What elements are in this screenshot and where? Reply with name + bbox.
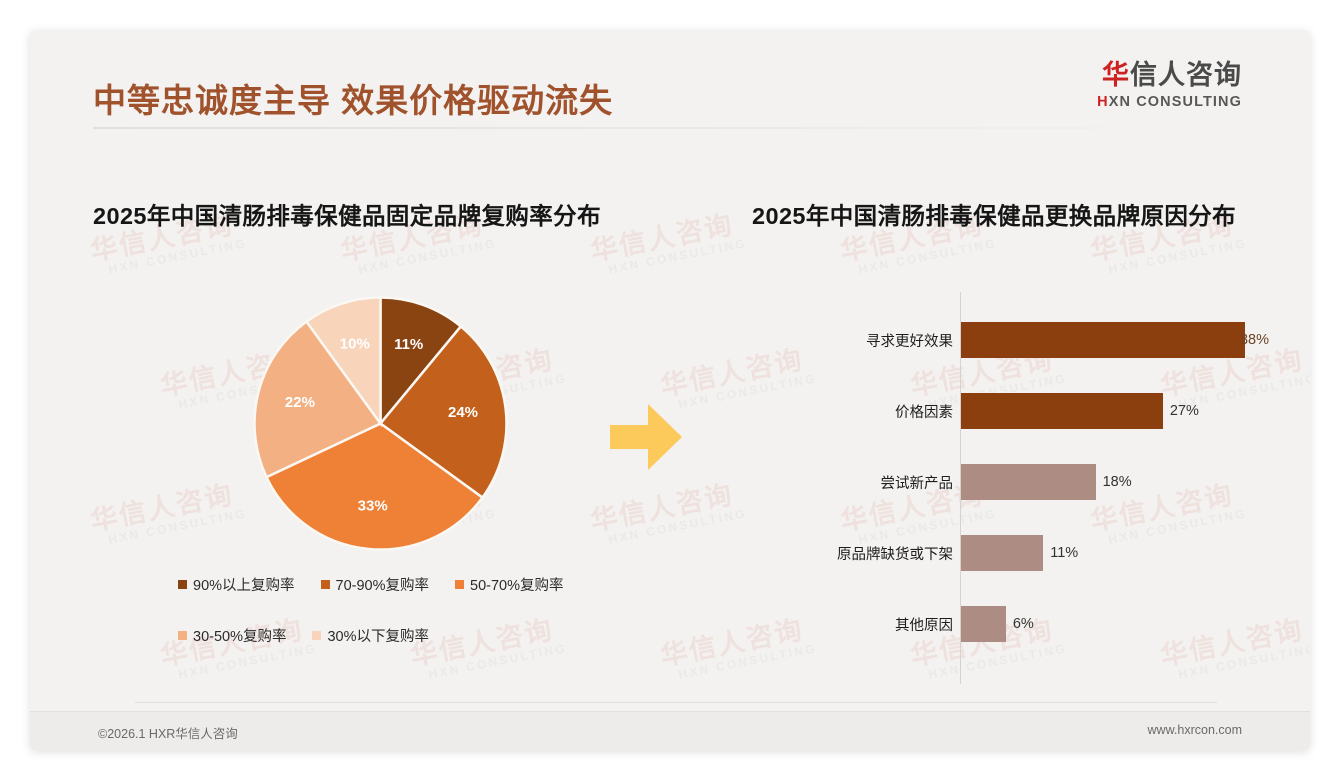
- legend-row: 90%以上复购率70-90%复购率50-70%复购率: [178, 574, 608, 595]
- legend-item[interactable]: 70-90%复购率: [321, 574, 429, 595]
- watermark-text: 华信人咨询HXN CONSULTING: [587, 201, 748, 280]
- logo-chinese-rest: 信人咨询: [1130, 60, 1242, 90]
- bar-fill[interactable]: [961, 393, 1163, 429]
- watermark-text: 华信人咨询HXN CONSULTING: [87, 471, 248, 550]
- bar-value-label: 6%: [1013, 616, 1034, 632]
- bar-fill[interactable]: [961, 464, 1096, 500]
- legend-swatch-icon: [455, 580, 464, 589]
- legend-swatch-icon: [321, 580, 330, 589]
- title-divider: [93, 127, 1243, 129]
- bar-category-label: 尝试新产品: [805, 472, 961, 493]
- bar-chart-title: 2025年中国清肠排毒保健品更换品牌原因分布: [752, 197, 1236, 231]
- pie-chart: 11%24%33%22%10%: [252, 295, 509, 552]
- bar-fill[interactable]: [961, 322, 1245, 358]
- legend-label: 30-50%复购率: [193, 625, 286, 646]
- bar-value-label: 38%: [1240, 332, 1269, 348]
- legend-label: 30%以下复购率: [327, 625, 429, 646]
- pie-chart-title: 2025年中国清肠排毒保健品固定品牌复购率分布: [93, 197, 601, 231]
- legend-label: 90%以上复购率: [193, 574, 295, 595]
- watermark-text: 华信人咨询HXN CONSULTING: [657, 606, 818, 685]
- bar-category-label: 寻求更好效果: [805, 330, 961, 351]
- footer-copyright: ©2026.1 HXR华信人咨询: [98, 723, 238, 742]
- bar-track: 27%: [961, 393, 1275, 429]
- legend-item[interactable]: 50-70%复购率: [455, 574, 563, 595]
- bar-track: 6%: [961, 606, 1275, 642]
- legend-label: 50-70%复购率: [470, 574, 563, 595]
- bar-category-label: 价格因素: [805, 401, 961, 422]
- legend-row: 30-50%复购率30%以下复购率: [178, 625, 608, 646]
- logo-english-rest: XN CONSULTING: [1109, 94, 1242, 110]
- logo-english-accent: H: [1097, 94, 1109, 110]
- pie-slice-label: 22%: [285, 394, 315, 411]
- bar-chart: 寻求更好效果38%价格因素27%尝试新产品18%原品牌缺货或下架11%其他原因6…: [805, 292, 1275, 684]
- bar-category-label: 原品牌缺货或下架: [805, 543, 961, 564]
- legend-item[interactable]: 90%以上复购率: [178, 574, 295, 595]
- pie-slice-label: 10%: [340, 335, 370, 352]
- pie-slice-label: 24%: [448, 404, 478, 421]
- bar-fill[interactable]: [961, 535, 1043, 571]
- logo-chinese: 华信人咨询: [1097, 62, 1242, 89]
- bar-value-label: 18%: [1103, 474, 1132, 490]
- legend-swatch-icon: [178, 631, 187, 640]
- legend-swatch-icon: [178, 580, 187, 589]
- bar-track: 38%: [961, 322, 1275, 358]
- slide-canvas: 华信人咨询HXN CONSULTING华信人咨询HXN CONSULTING华信…: [30, 30, 1310, 750]
- bar-category-label: 其他原因: [805, 614, 961, 635]
- slide-footer: ©2026.1 HXR华信人咨询 www.hxrcon.com: [30, 711, 1310, 750]
- bar-track: 11%: [961, 535, 1275, 571]
- company-logo: 华信人咨询 HXN CONSULTING: [1097, 62, 1242, 110]
- pie-slice-label: 33%: [358, 497, 388, 514]
- footnote-divider: [135, 702, 1217, 703]
- logo-english: HXN CONSULTING: [1097, 95, 1242, 110]
- footer-website: www.hxrcon.com: [1148, 723, 1242, 737]
- bar-chart-row: 尝试新产品18%: [805, 464, 1275, 500]
- bar-chart-row: 寻求更好效果38%: [805, 322, 1275, 358]
- legend-swatch-icon: [312, 631, 321, 640]
- legend-label: 70-90%复购率: [336, 574, 429, 595]
- bar-chart-row: 原品牌缺货或下架11%: [805, 535, 1275, 571]
- legend-item[interactable]: 30-50%复购率: [178, 625, 286, 646]
- bar-value-label: 27%: [1170, 403, 1199, 419]
- logo-chinese-accent: 华: [1102, 60, 1130, 90]
- bar-track: 18%: [961, 464, 1275, 500]
- pie-chart-svg: 11%24%33%22%10%: [252, 295, 509, 552]
- watermark-text: 华信人咨询HXN CONSULTING: [587, 471, 748, 550]
- legend-item[interactable]: 30%以下复购率: [312, 625, 429, 646]
- pie-chart-legend: 90%以上复购率70-90%复购率50-70%复购率30-50%复购率30%以下…: [178, 574, 608, 676]
- right-arrow-icon: [608, 398, 684, 481]
- page-title: 中等忠诚度主导 效果价格驱动流失: [93, 74, 613, 122]
- pie-slice-label: 11%: [394, 336, 423, 353]
- bar-fill[interactable]: [961, 606, 1006, 642]
- bar-chart-row: 其他原因6%: [805, 606, 1275, 642]
- bar-value-label: 11%: [1050, 545, 1078, 561]
- bar-chart-row: 价格因素27%: [805, 393, 1275, 429]
